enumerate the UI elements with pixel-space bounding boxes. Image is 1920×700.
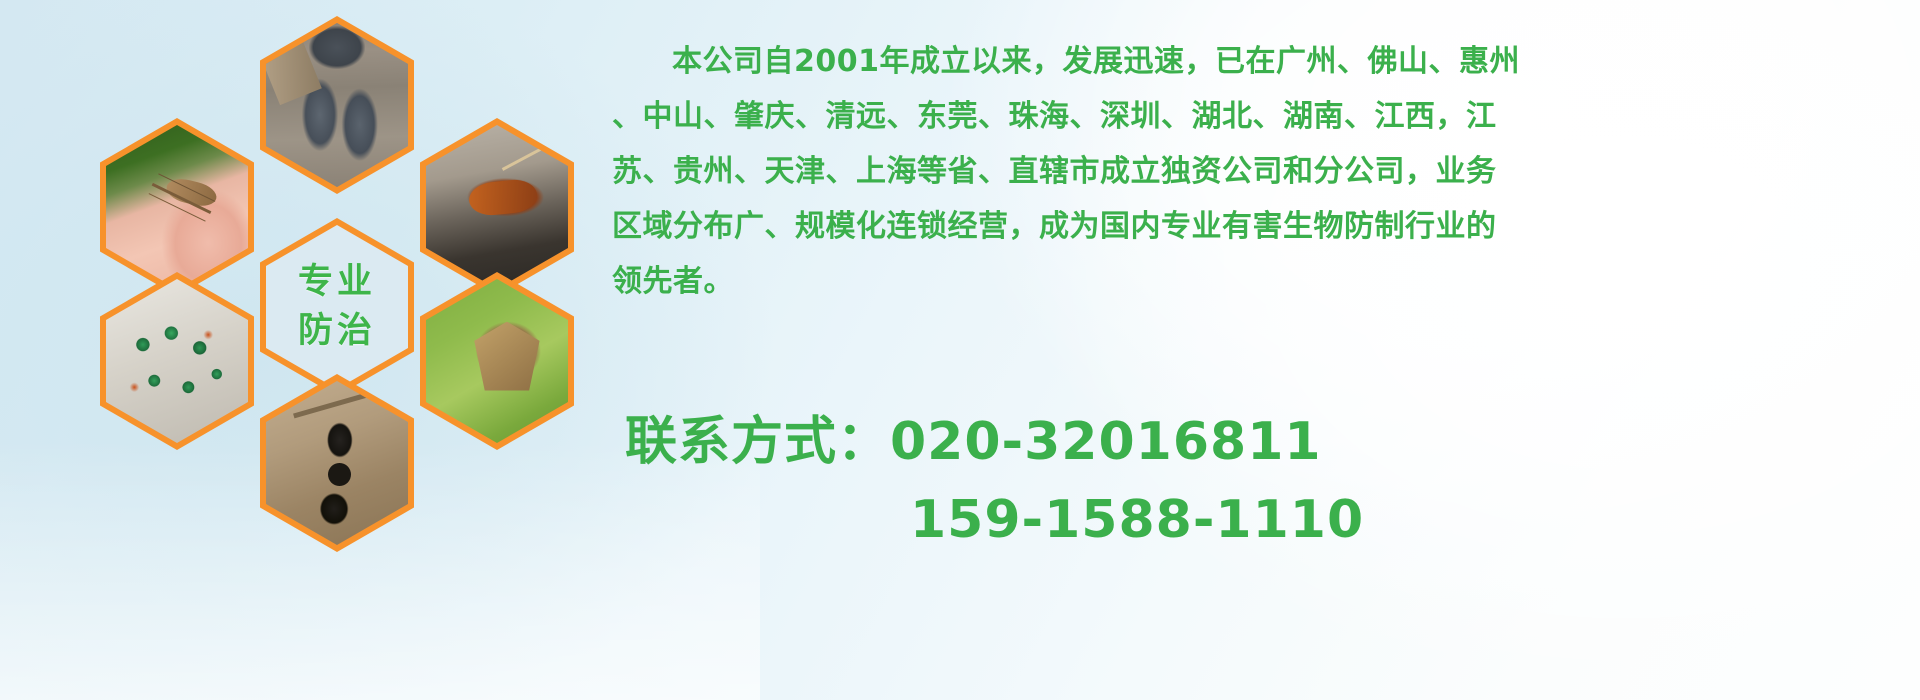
hex-inner-center: 专业 防治 xyxy=(266,225,408,389)
center-slogan-line-1: 专业 xyxy=(298,262,376,303)
hex-cell-ant[interactable] xyxy=(260,374,414,552)
cockroach-photo xyxy=(426,125,568,289)
hex-inner-rodent xyxy=(266,23,408,187)
hex-cell-rodent[interactable] xyxy=(260,16,414,194)
hex-inner-ant xyxy=(266,381,408,545)
hex-inner-flies xyxy=(106,279,248,443)
description-line-4: 区域分布广、规模化连锁经营，成为国内专业有害生物防制行业的 xyxy=(612,199,1862,254)
hex-photo-collage: 专业 防治 xyxy=(92,0,592,562)
hex-cell-flies[interactable] xyxy=(100,272,254,450)
contact-secondary-phone[interactable]: 159-1588-1110 xyxy=(625,481,1825,559)
hex-inner-stinkbug xyxy=(426,279,568,443)
hex-inner-cockroach xyxy=(426,125,568,289)
hex-cell-mosquito[interactable] xyxy=(100,118,254,296)
contact-primary-phone[interactable]: 联系方式：020-32016811 xyxy=(625,403,1825,481)
hex-cell-stinkbug[interactable] xyxy=(420,272,574,450)
company-description: 本公司自2001年成立以来，发展迅速，已在广州、佛山、惠州 、中山、肇庆、清远、… xyxy=(612,34,1862,309)
description-line-1: 本公司自2001年成立以来，发展迅速，已在广州、佛山、惠州 xyxy=(612,34,1862,89)
description-line-5: 领先者。 xyxy=(612,254,1862,309)
ant-photo xyxy=(266,381,408,545)
description-line-3: 苏、贵州、天津、上海等省、直辖市成立独资公司和分公司，业务 xyxy=(612,144,1862,199)
contact-block: 联系方式：020-32016811 159-1588-1110 xyxy=(625,403,1825,559)
hex-cell-center-label: 专业 防治 xyxy=(260,218,414,396)
center-slogan: 专业 防治 xyxy=(298,262,376,353)
description-line-2: 、中山、肇庆、清远、东莞、珠海、深圳、湖北、湖南、江西，江 xyxy=(612,89,1862,144)
stink-bug-photo xyxy=(426,279,568,443)
rodents-photo xyxy=(266,23,408,187)
center-slogan-line-2: 防治 xyxy=(298,311,376,352)
hex-cell-cockroach[interactable] xyxy=(420,118,574,296)
green-bottle-flies-photo xyxy=(106,279,248,443)
pest-control-banner: 专业 防治 本公司自2001年成立以来，发展迅速，已在广州、佛山、惠州 、中山、… xyxy=(0,0,1920,700)
hex-inner-mosquito xyxy=(106,125,248,289)
mosquito-photo xyxy=(106,125,248,289)
